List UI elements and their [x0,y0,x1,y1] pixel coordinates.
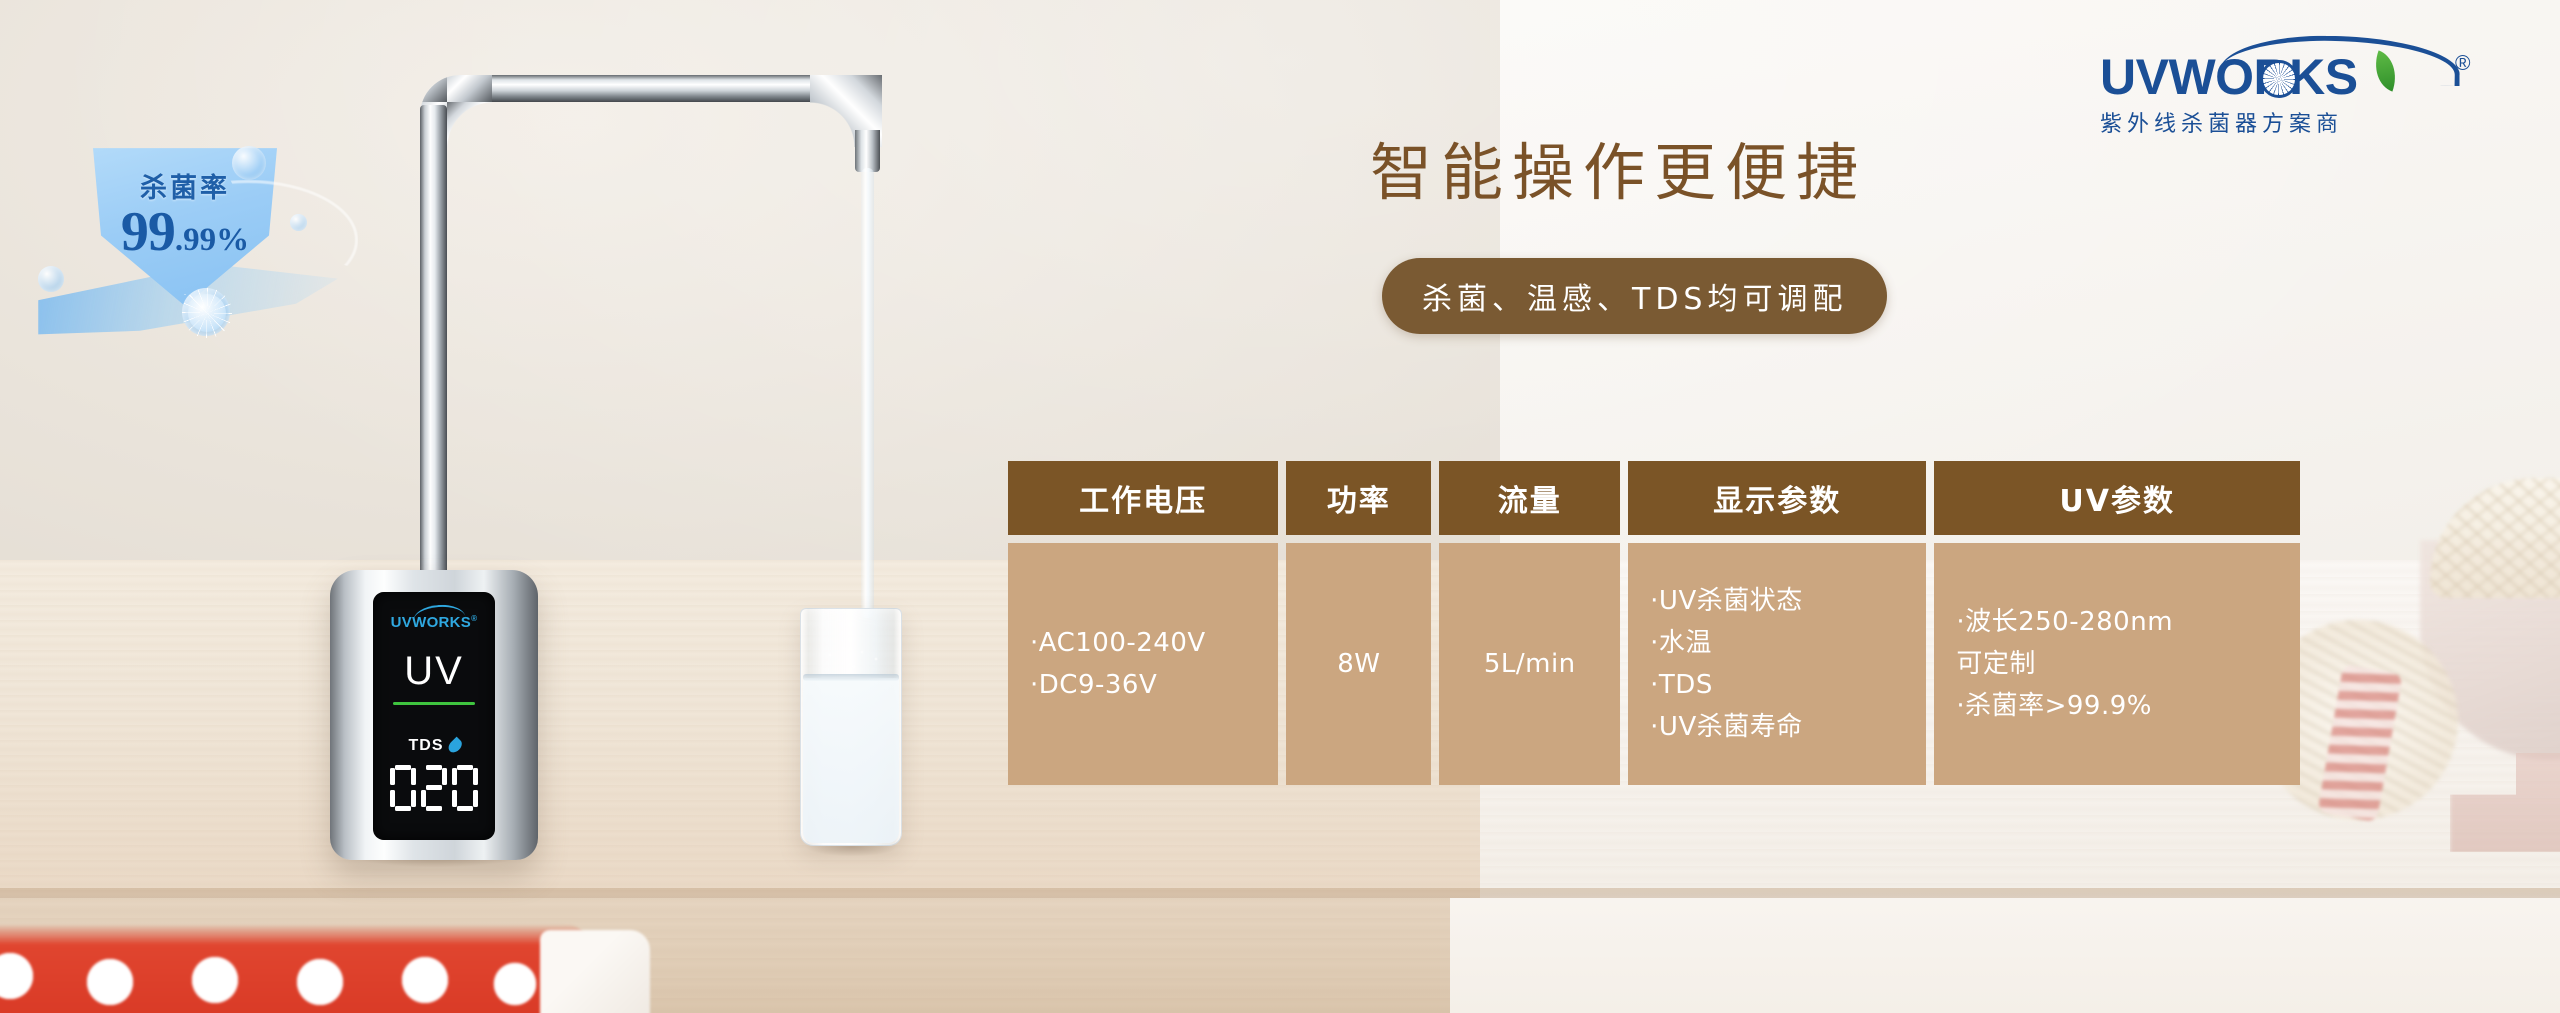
screen-tds-value [390,765,478,811]
glass-water-fill [803,678,899,843]
badge-value-major: 99 [121,201,175,263]
spec-body-cell: 5L/min [1439,543,1620,785]
spec-body-cell: ·波长250-280nm 可定制·杀菌率>99.9% [1934,543,2300,785]
screen-tds-label: TDS [409,737,444,755]
spec-table-body-row: ·AC100-240V·DC9-36V 8W 5L/min ·UV杀菌状态·水温… [1008,543,2300,785]
brand-wordmark: UVWORKS ® [2100,40,2490,102]
spec-body-cell: ·AC100-240V·DC9-36V [1008,543,1278,785]
screen-mode-label: UV [404,649,464,694]
spec-table-header-row: 工作电压 功率 流量 显示参数 UV参数 [1008,461,2300,535]
faucet-vertical-column [420,105,447,605]
page-title: 智能操作更便捷 [1370,122,1867,212]
device-display-screen: UVWORKS® UV TDS [373,592,495,840]
spec-header-cell: 流量 [1439,461,1620,535]
spec-table: 工作电压 功率 流量 显示参数 UV参数 ·AC100-240V·DC9-36V… [1008,461,2300,785]
bubble-icon [232,146,266,180]
water-stream [861,168,874,618]
spec-line: ·UV杀菌状态 [1650,580,1803,622]
spec-line: 可定制 [1956,643,2036,685]
seven-segment-digit [452,765,478,811]
brand-tagline: 紫外线杀菌器方案商 [2100,106,2490,138]
virus-icon [188,294,226,332]
spec-header-cell: 工作电压 [1008,461,1278,535]
spec-line: 5L/min [1484,643,1576,685]
bubble-icon [38,266,64,292]
water-splash [822,645,884,687]
spec-header-cell: UV参数 [1934,461,2300,535]
faucet-horizontal-arm [460,75,850,102]
sun-burst-icon [2260,60,2298,98]
spec-body-cell: ·UV杀菌状态·水温·TDS·UV杀菌寿命 [1628,543,1926,785]
spec-line: ·水温 [1650,622,1712,664]
spec-line: ·杀菌率>99.9% [1956,685,2152,727]
faucet-spout [855,130,880,172]
spec-line: ·AC100-240V [1030,622,1206,664]
seven-segment-digit [390,765,416,811]
screen-tds-row: TDS [409,737,460,755]
counter-front-panel-right [1450,898,2560,1013]
spec-line: ·TDS [1650,664,1713,706]
spec-header-cell: 功率 [1286,461,1431,535]
spec-body-cell: 8W [1286,543,1431,785]
brand-logo: UVWORKS ® 紫外线杀菌器方案商 [2100,40,2490,138]
spec-line: 8W [1337,643,1380,685]
badge-value-minor: .99% [175,222,249,258]
screen-status-bar [393,702,475,705]
cloth-fold [540,930,650,1013]
bubble-icon [290,214,307,231]
water-drop-icon [446,736,464,754]
sterilization-rate-badge: 杀菌率 99.99% [30,118,360,333]
subtitle-pill: 杀菌、温感、TDS均可调配 [1382,258,1887,334]
spec-header-cell: 显示参数 [1628,461,1926,535]
badge-value: 99.99% [70,200,300,264]
screen-brand-logo: UVWORKS® [391,614,478,631]
registered-trademark-icon: ® [2455,52,2470,76]
red-polka-dot-cloth [0,924,590,1013]
seven-segment-digit [421,765,447,811]
screen-logo-registered: ® [471,614,477,623]
spec-line: ·波长250-280nm [1956,601,2173,643]
brand-name: UVWORKS [2100,48,2358,106]
spec-line: ·DC9-36V [1030,664,1157,706]
spec-line: ·UV杀菌寿命 [1650,706,1803,748]
